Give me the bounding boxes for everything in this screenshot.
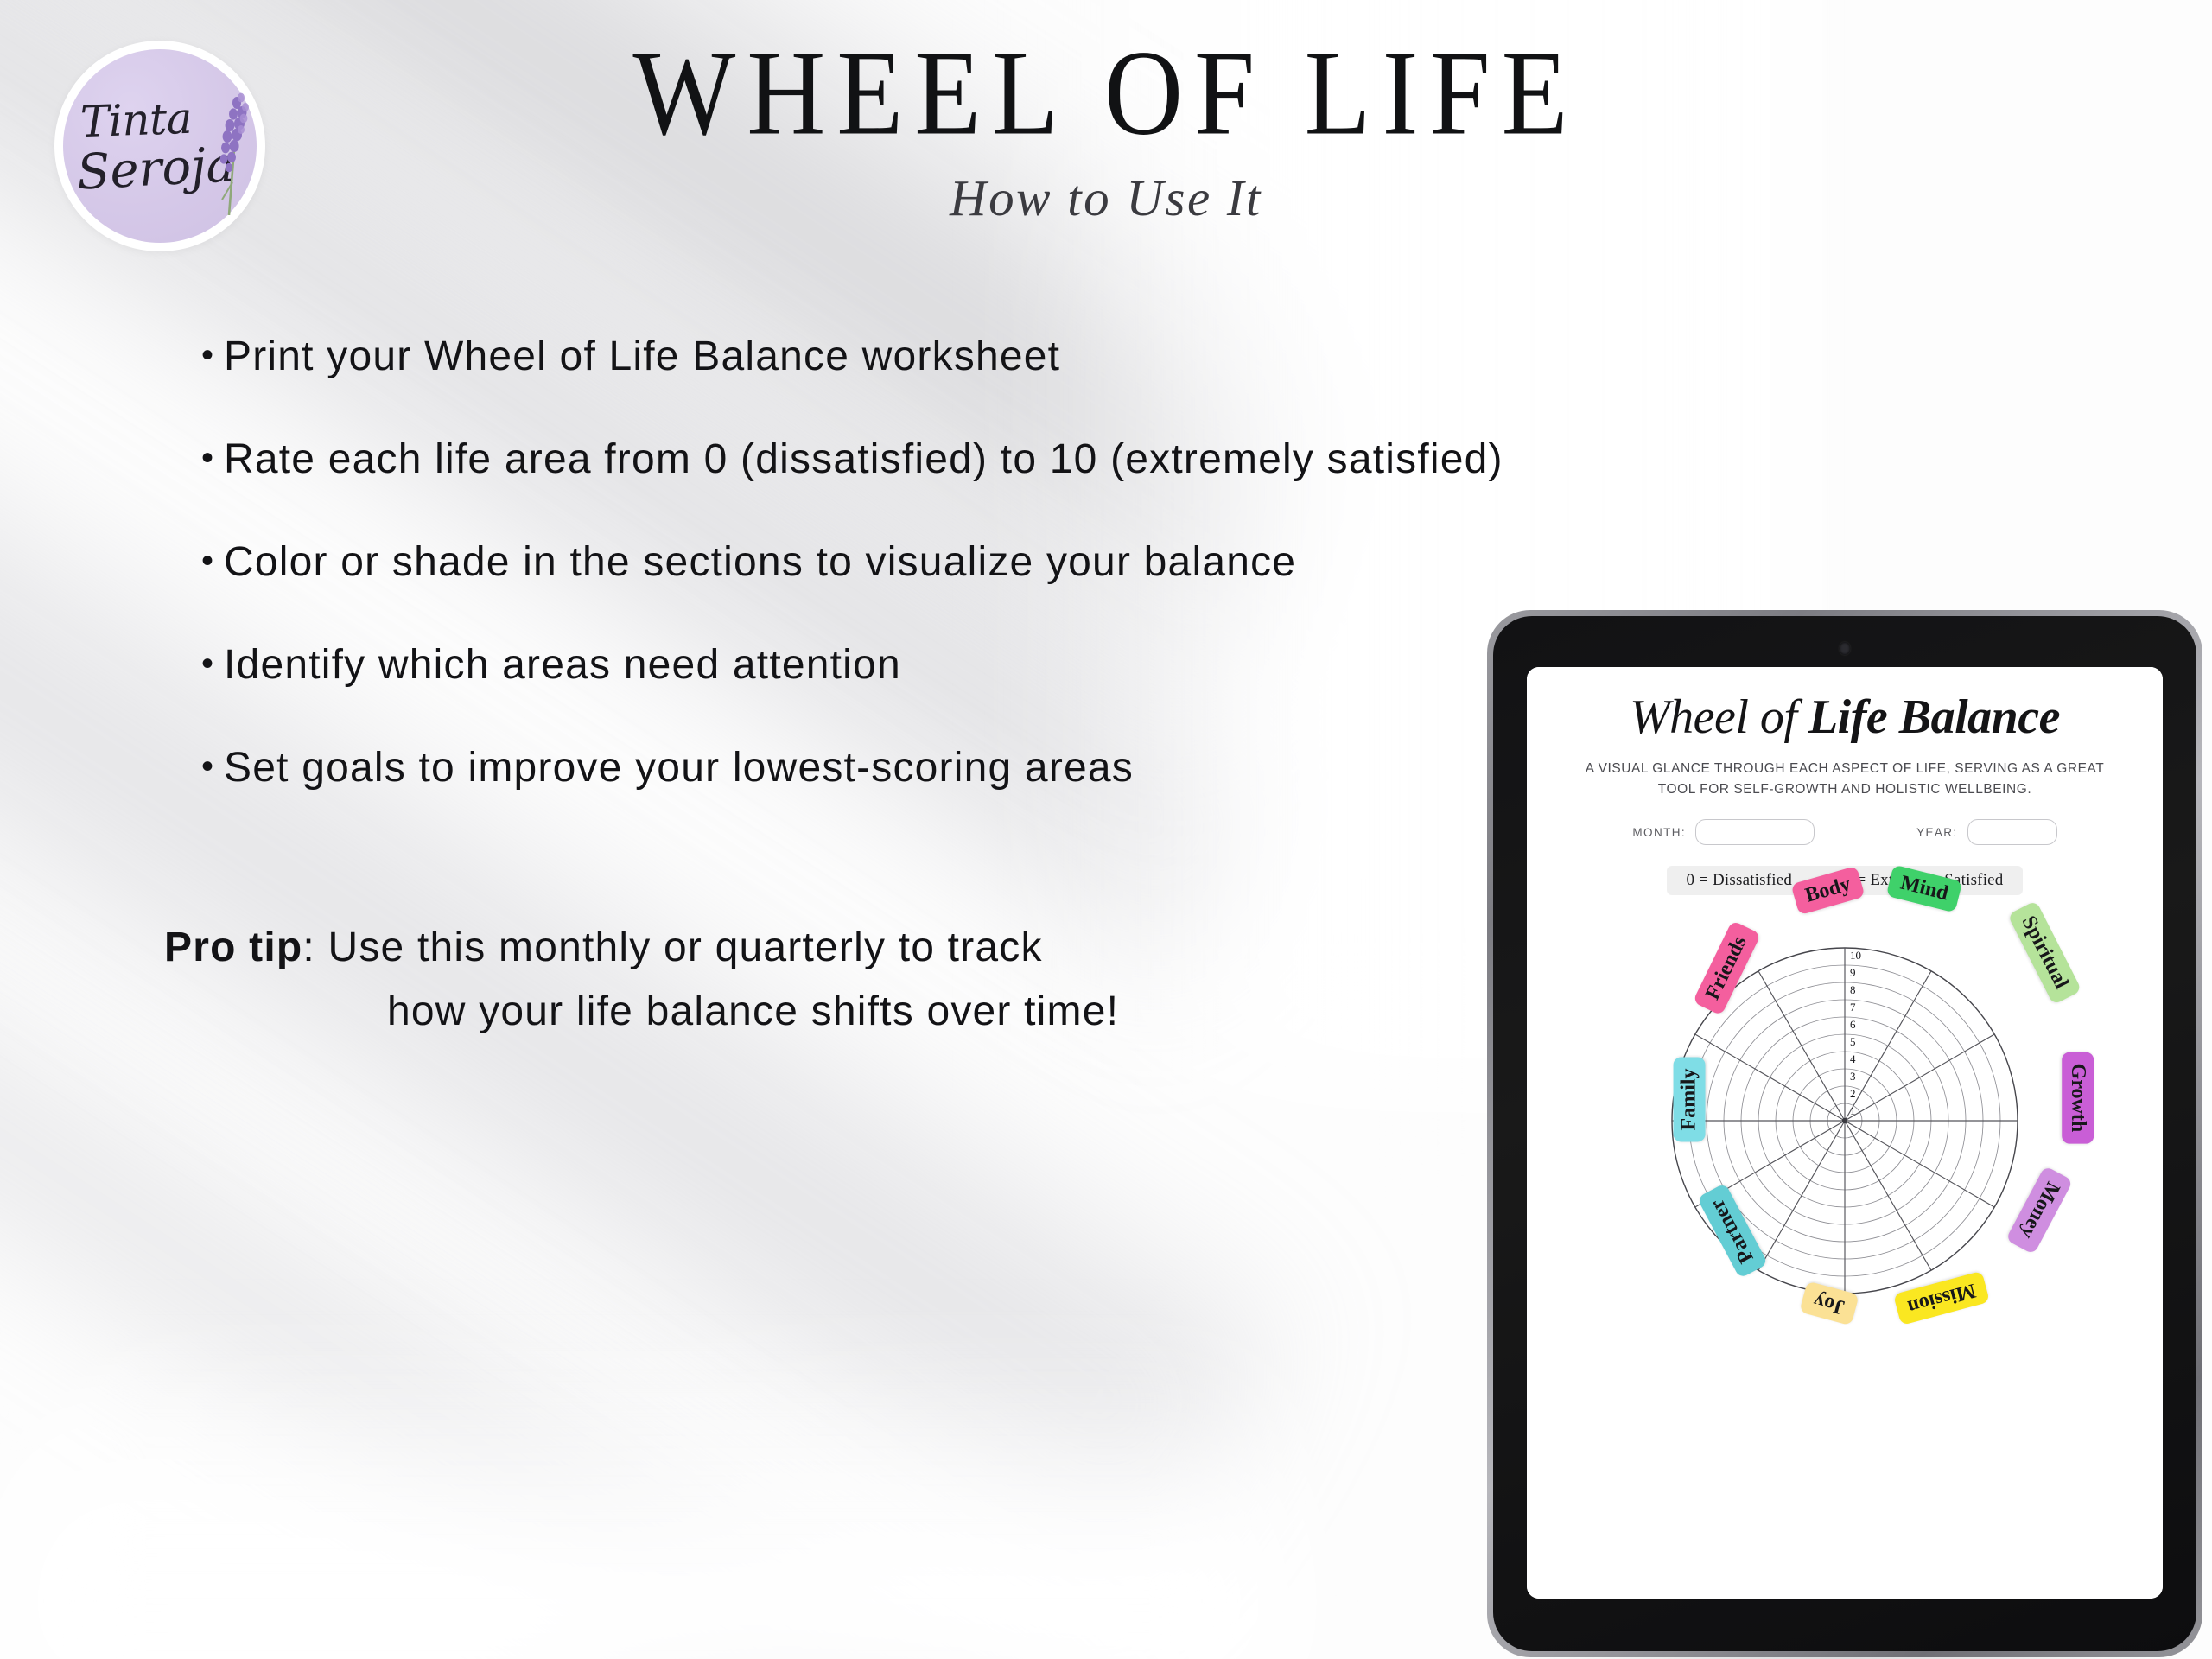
worksheet-title: Wheel of Life Balance [1527, 690, 2163, 745]
worksheet-title-part1: Wheel [1630, 690, 1748, 744]
wheel-scale-label: 2 [1850, 1087, 1856, 1100]
wheel-scale-label: 5 [1850, 1035, 1856, 1048]
bullet-icon: • [201, 646, 213, 681]
bullet-icon: • [201, 441, 213, 475]
wheel-center-dot [1842, 1118, 1847, 1123]
list-item-label: Set goals to improve your lowest-scoring… [224, 744, 1134, 791]
tablet-screen: Wheel of Life Balance A VISUAL GLANCE TH… [1527, 667, 2163, 1599]
instruction-list: • Print your Wheel of Life Balance works… [201, 333, 1428, 847]
wheel-spoke [1845, 1034, 1994, 1121]
lavender-sprig-icon [196, 86, 253, 215]
bullet-icon: • [201, 543, 213, 578]
wheel-scale-label: 9 [1850, 966, 1856, 979]
pro-tip-label: Pro tip [164, 925, 302, 970]
logo-line-1: Tinta [79, 98, 193, 143]
worksheet-title-part2: of [1760, 690, 1797, 744]
wheel-scale-label: 7 [1850, 1001, 1856, 1014]
camera-icon [1840, 642, 1851, 655]
wheel-scale-label: 1 [1850, 1104, 1856, 1117]
list-item: • Rate each life area from 0 (dissatisfi… [201, 435, 1428, 483]
wheel-scale-label: 4 [1850, 1052, 1856, 1065]
list-item-label: Color or shade in the sections to visual… [224, 538, 1296, 586]
page-title: WHEEL OF LIFE [0, 24, 2212, 163]
wheel-scale-label: 3 [1850, 1070, 1856, 1083]
year-input[interactable] [1967, 819, 2057, 845]
wheel-spoke [1845, 1121, 1931, 1270]
list-item: • Identify which areas need attention [201, 641, 1428, 689]
brand-logo: Tinta Seroja [54, 41, 265, 251]
month-label: MONTH: [1632, 826, 1686, 839]
worksheet: Wheel of Life Balance A VISUAL GLANCE TH… [1527, 667, 2163, 1599]
pro-tip-text: : Use this monthly or quarterly to track [302, 925, 1042, 970]
wheel-spoke [1758, 971, 1845, 1121]
wheel-scale-label: 10 [1850, 949, 1861, 962]
year-label: YEAR: [1916, 826, 1958, 839]
legend-low: 0 = Dissatisfied [1686, 871, 1792, 890]
wheel-label-family: Family [1674, 1057, 1706, 1141]
wheel-spoke [1695, 1034, 1845, 1121]
page-subtitle: How to Use It [0, 168, 2212, 228]
wheel-chart: 12345678910 BodyMindSpiritualGrowthMoney… [1642, 918, 2048, 1324]
wheel-spoke [1845, 971, 1931, 1121]
list-item-label: Print your Wheel of Life Balance workshe… [224, 333, 1060, 380]
wheel-scale-label: 6 [1850, 1018, 1856, 1031]
bullet-icon: • [201, 338, 213, 372]
year-field-group: YEAR: [1916, 819, 2057, 845]
month-input[interactable] [1695, 819, 1815, 845]
worksheet-description: A VISUAL GLANCE THROUGH EACH ASPECT OF L… [1578, 759, 2112, 800]
pro-tip-line-1: Pro tip: Use this monthly or quarterly t… [164, 916, 1460, 980]
month-field-group: MONTH: [1632, 819, 1815, 845]
highlight-bottom [0, 1348, 1296, 1659]
wheel-spoke [1845, 1121, 1994, 1207]
tablet-mockup: Wheel of Life Balance A VISUAL GLANCE TH… [1487, 610, 2202, 1657]
list-item: • Color or shade in the sections to visu… [201, 538, 1428, 586]
worksheet-date-fields: MONTH: YEAR: [1527, 819, 2163, 845]
wheel-spoke [1758, 1121, 1845, 1270]
pro-tip-line-2: how your life balance shifts over time! [164, 980, 1460, 1044]
list-item: • Set goals to improve your lowest-scori… [201, 744, 1428, 791]
list-item: • Print your Wheel of Life Balance works… [201, 333, 1428, 380]
worksheet-title-part3: Life Balance [1808, 690, 2060, 744]
list-item-label: Rate each life area from 0 (dissatisfied… [224, 435, 1503, 483]
list-item-label: Identify which areas need attention [224, 641, 901, 689]
bullet-icon: • [201, 749, 213, 784]
pro-tip-block: Pro tip: Use this monthly or quarterly t… [164, 916, 1460, 1045]
wheel-scale-label: 8 [1850, 983, 1856, 996]
wheel-label-growth: Growth [2062, 1052, 2094, 1144]
